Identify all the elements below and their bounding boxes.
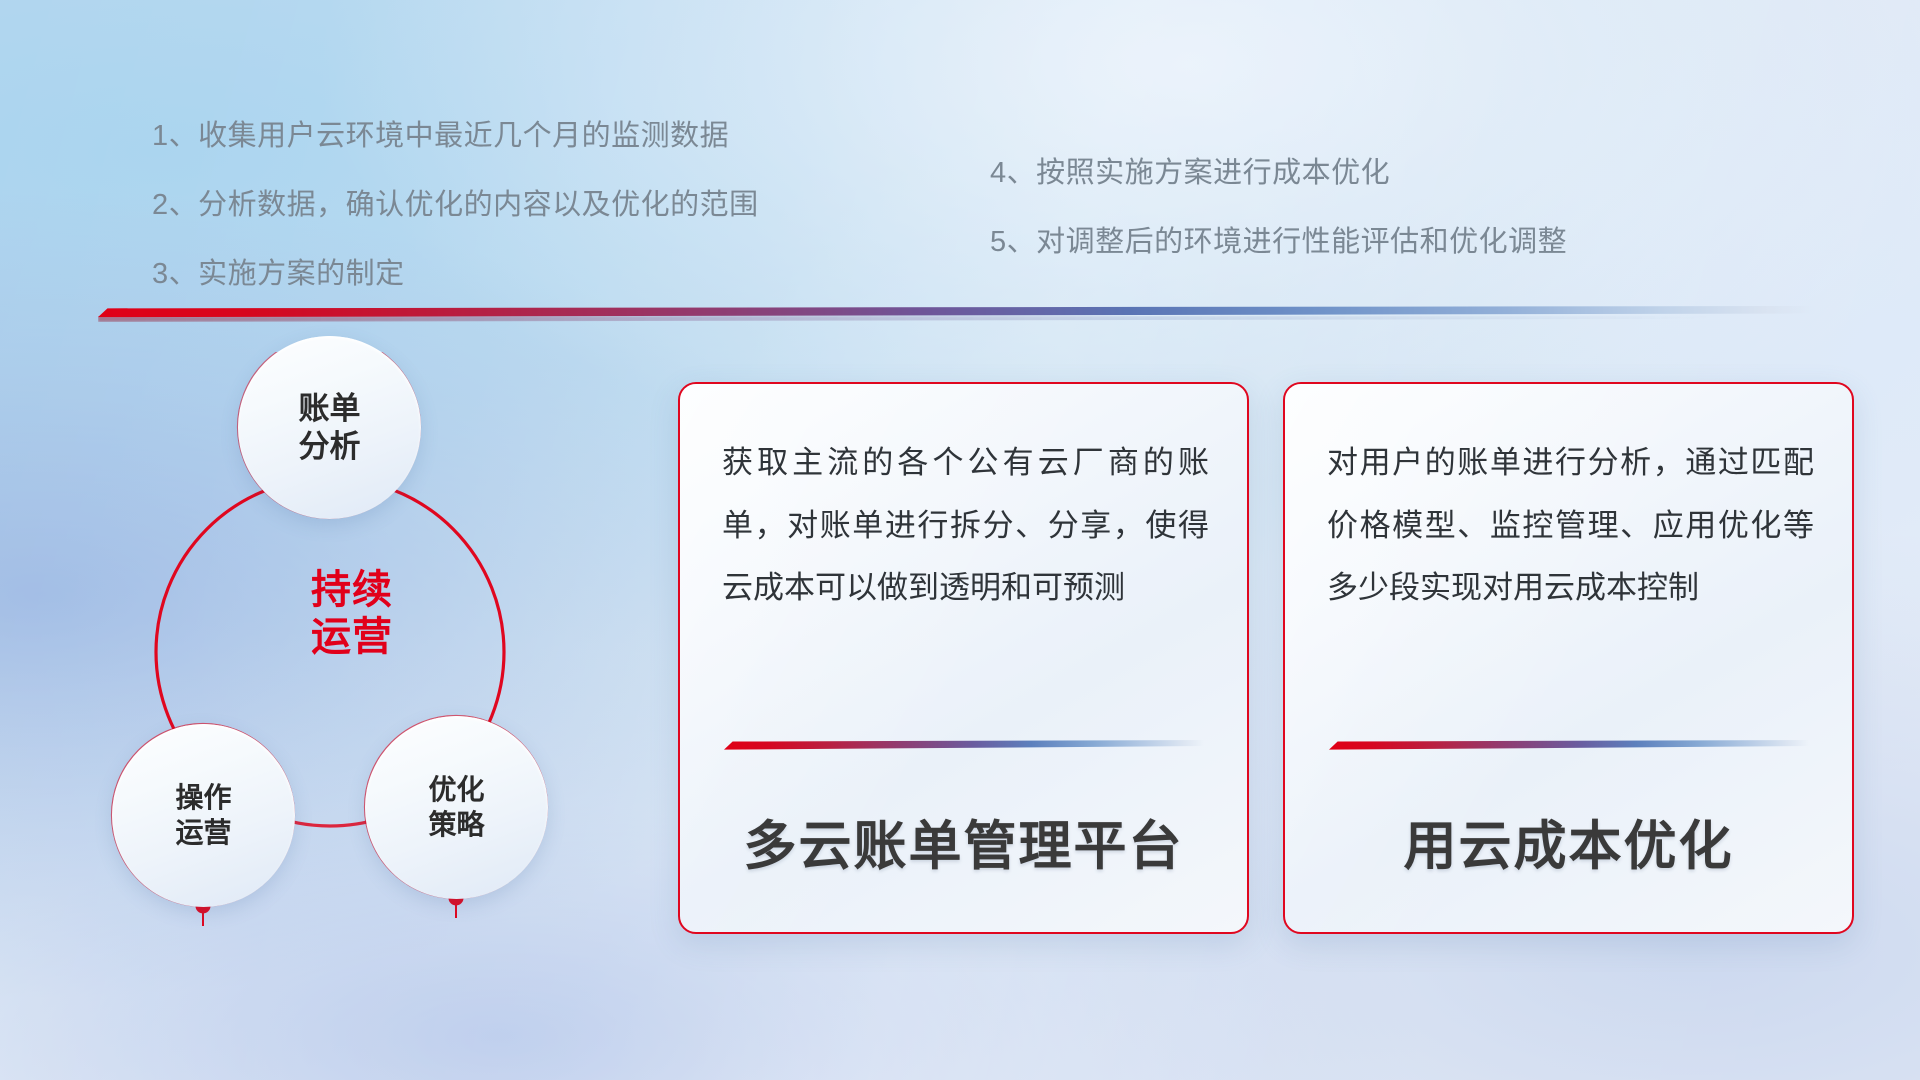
step-item-2: 2、分析数据，确认优化的内容以及优化的范围 [152,191,759,220]
venn-bubble-label: 操作运营 [175,781,231,849]
steps-list-right: 4、按照实施方案进行成本优化 5、对调整后的环境进行性能评估和优化调整 [990,159,1567,257]
card-description: 获取主流的各个公有云厂商的账单，对账单进行拆分、分享，使得云成本可以做到透明和可… [722,432,1209,620]
venn-bubble-operation-management[interactable]: 操作运营 [112,724,295,907]
continuous-operation-venn-diagram: 账单分析 操作运营 优化策略 持续 运营 [92,352,612,952]
venn-bubble-label: 账单分析 [299,390,361,466]
card-title: 多云账单管理平台 [680,804,1247,880]
step-item-1: 1、收集用户云环境中最近几个月的监测数据 [152,122,759,151]
step-item-4: 4、按照实施方案进行成本优化 [990,159,1567,188]
card-title: 用云成本优化 [1285,804,1852,880]
card-cloud-cost-optimization[interactable]: 对用户的账单进行分析，通过匹配价格模型、监控管理、应用优化等多少段实现对用云成本… [1283,382,1854,934]
step-item-3: 3、实施方案的制定 [152,260,759,289]
step-item-5: 5、对调整后的环境进行性能评估和优化调整 [990,228,1567,257]
venn-bubble-optimization-strategy[interactable]: 优化策略 [365,716,548,899]
venn-center-label: 持续 运营 [262,567,442,661]
card-accent-rule [724,740,1204,751]
card-multi-cloud-billing-platform[interactable]: 获取主流的各个公有云厂商的账单，对账单进行拆分、分享，使得云成本可以做到透明和可… [678,382,1249,934]
card-accent-rule [1329,740,1809,751]
venn-bubble-bill-analysis[interactable]: 账单分析 [238,336,421,519]
venn-bubble-label: 优化策略 [428,773,484,841]
card-description: 对用户的账单进行分析，通过匹配价格模型、监控管理、应用优化等多少段实现对用云成本… [1327,432,1814,620]
steps-list-left: 1、收集用户云环境中最近几个月的监测数据 2、分析数据，确认优化的内容以及优化的… [152,122,759,289]
